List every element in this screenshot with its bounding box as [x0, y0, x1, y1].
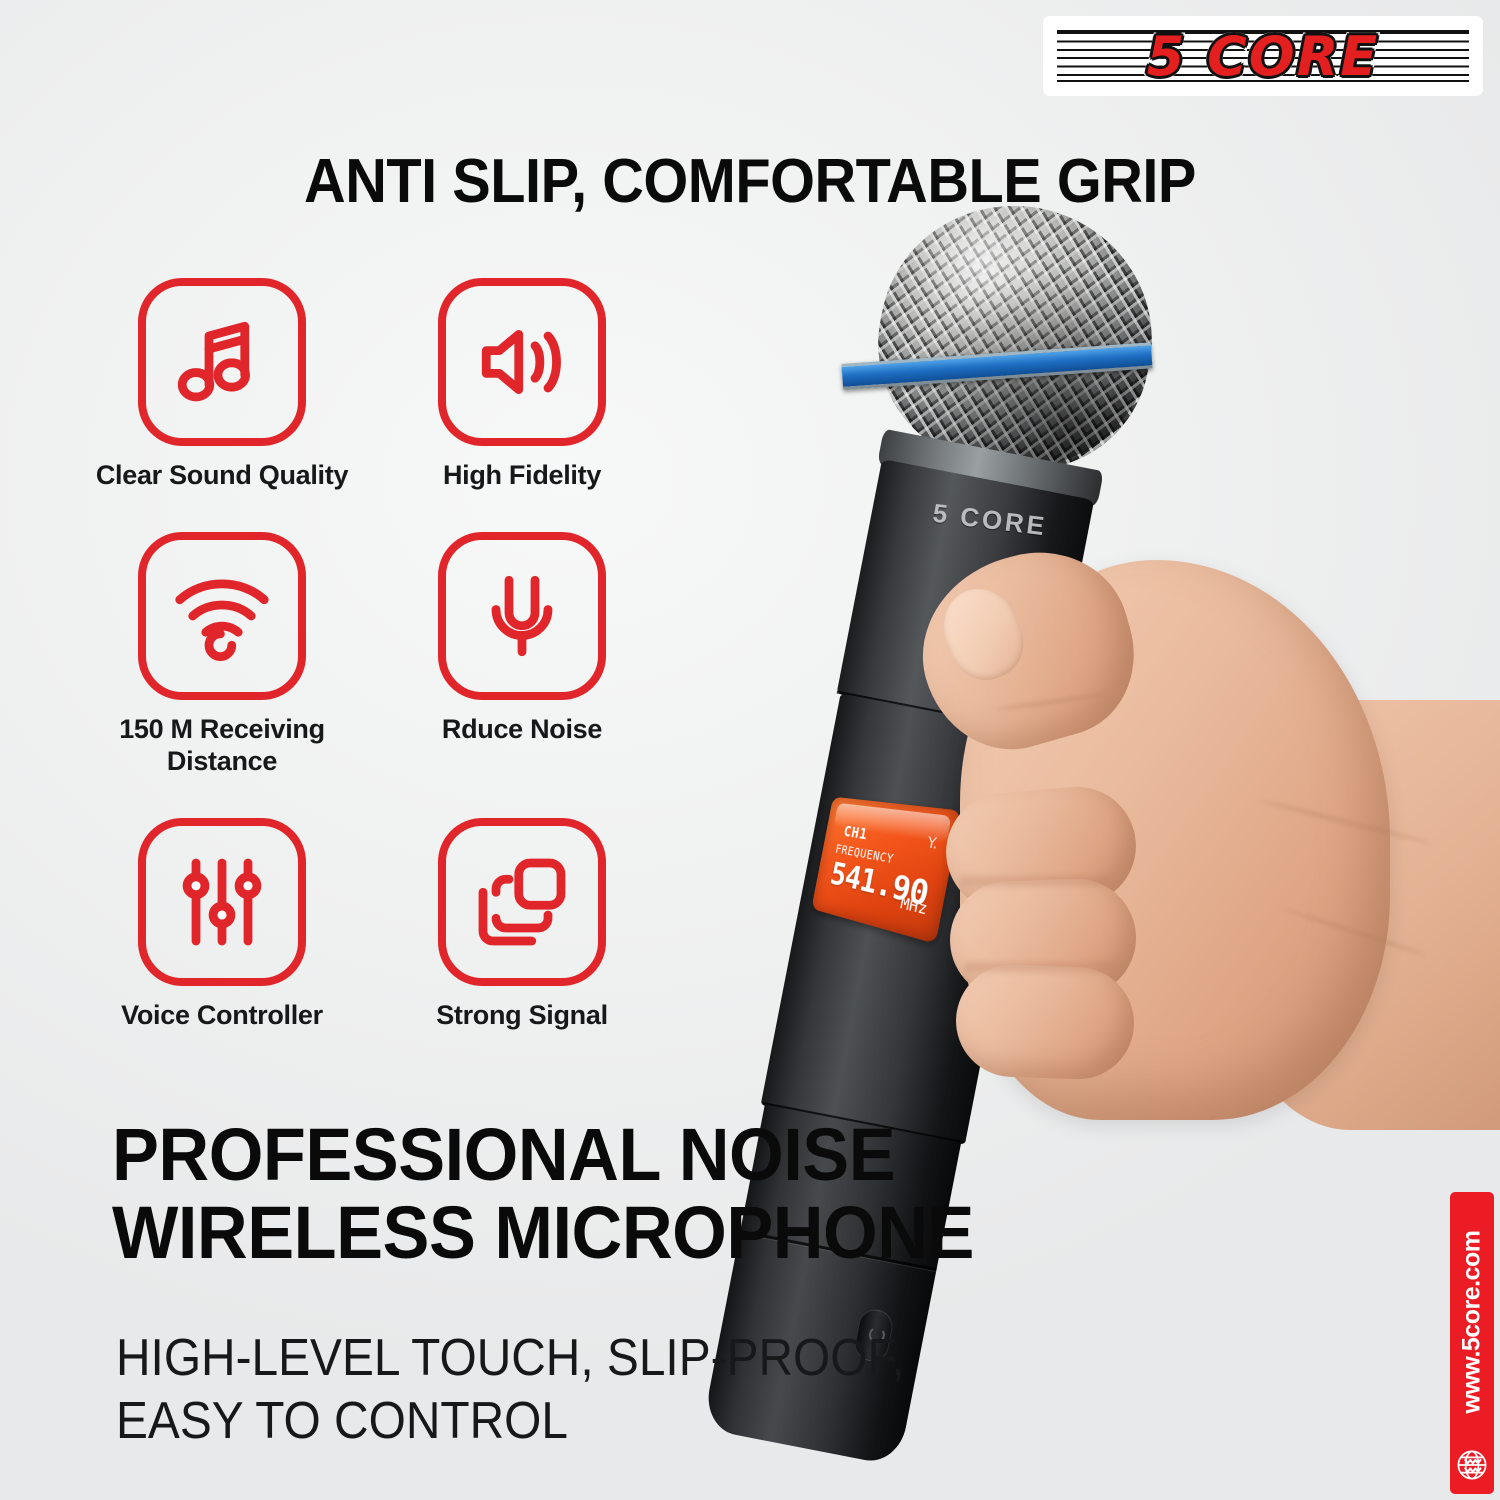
bottom-title: PROFESSIONAL NOISE WIRELESS MICROPHONE [112, 1116, 1024, 1273]
globe-www-icon [1455, 1448, 1489, 1482]
finger-ring [954, 963, 1136, 1081]
feature-label: 150 M Receiving Distance [87, 714, 357, 778]
product-photo: 5 CORE CH1 Y. FREQUENCY 541.90 MHz [660, 0, 1500, 1500]
feature-icon-box [138, 532, 306, 700]
overlapping-squares-icon [470, 850, 574, 954]
knuckle-crease [964, 962, 1114, 972]
bottom-subtitle-line2: EASY TO CONTROL [116, 1390, 962, 1453]
website-url-text: www.5core.com [1458, 1231, 1487, 1414]
feature-icon-box [438, 278, 606, 446]
bottom-subtitle: HIGH-LEVEL TOUCH, SLIP-PROOF, EASY TO CO… [116, 1327, 962, 1454]
feature-label: High Fidelity [387, 460, 657, 492]
feature-grid: Clear Sound Quality High Fidelity [72, 278, 672, 1031]
feature-item-clear-sound-quality: Clear Sound Quality [72, 278, 372, 492]
wifi-signal-icon [170, 564, 274, 668]
music-note-icon [170, 310, 274, 414]
bottom-title-line1: PROFESSIONAL NOISE [112, 1116, 1024, 1194]
speaker-waves-icon [470, 310, 574, 414]
feature-label: Clear Sound Quality [87, 460, 357, 492]
website-url-tab[interactable]: www.5core.com [1450, 1192, 1494, 1494]
feature-row-1: Clear Sound Quality High Fidelity [72, 278, 672, 492]
hand-holding-microphone [660, 0, 1500, 1500]
feature-icon-box [438, 818, 606, 986]
feature-row-2: 150 M Receiving Distance Rduce Noise [72, 532, 672, 778]
feature-icon-box [138, 818, 306, 986]
feature-icon-box [438, 532, 606, 700]
feature-label: Voice Controller [87, 1000, 357, 1032]
feature-icon-box [138, 278, 306, 446]
feature-item-voice-controller: Voice Controller [72, 818, 372, 1032]
bottom-subtitle-line1: HIGH-LEVEL TOUCH, SLIP-PROOF, [116, 1327, 962, 1390]
feature-label: Rduce Noise [387, 714, 657, 746]
bottom-title-line2: WIRELESS MICROPHONE [112, 1194, 1024, 1272]
feature-item-reduce-noise: Rduce Noise [372, 532, 672, 778]
knuckle-crease [960, 876, 1110, 886]
feature-item-receiving-distance: 150 M Receiving Distance [72, 532, 372, 778]
microphone-icon [470, 564, 574, 668]
equalizer-sliders-icon [170, 850, 274, 954]
feature-item-strong-signal: Strong Signal [372, 818, 672, 1032]
feature-item-high-fidelity: High Fidelity [372, 278, 672, 492]
feature-label: Strong Signal [387, 1000, 657, 1032]
product-marketing-poster: 5 CORE ANTI SLIP, COMFORTABLE GRIP Clear… [0, 0, 1500, 1500]
feature-row-3: Voice Controller Strong Signal [72, 818, 672, 1032]
